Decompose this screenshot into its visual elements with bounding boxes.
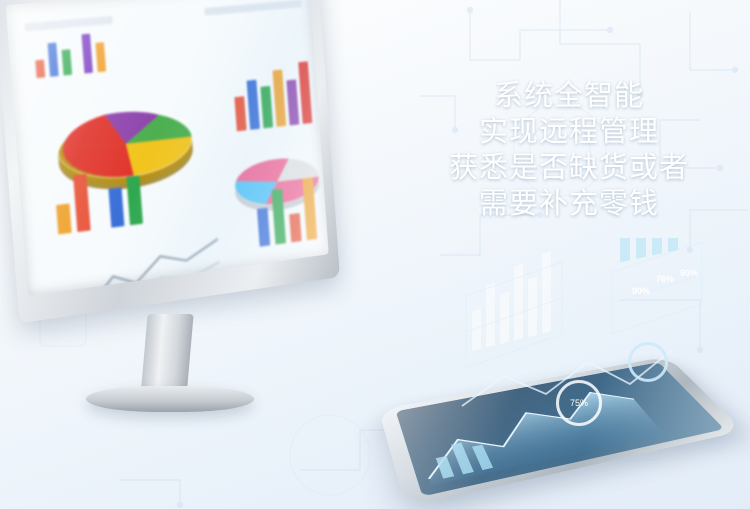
headline-text: 系统全智能 实现远程管理 获悉是否缺货或者 需要补充零钱 [404, 78, 734, 222]
bar-right-group [247, 80, 260, 130]
panel-block [204, 0, 302, 16]
mini-bar [48, 43, 59, 77]
holo-donut-label: 75% [559, 398, 599, 408]
bar-right-group [298, 61, 312, 124]
headline-line-4: 需要补充零钱 [404, 186, 734, 222]
holo-ring-plain [628, 342, 668, 382]
promo-image-stage: 系统全智能 实现远程管理 获悉是否缺货或者 需要补充零钱 [0, 0, 750, 509]
monitor-bezel [0, 0, 340, 323]
mini-bar [62, 49, 73, 75]
desktop-monitor [0, 0, 354, 416]
bar-left-group [108, 187, 124, 227]
bar-left-group [56, 203, 72, 234]
holo-donut-chart: 75% [556, 380, 602, 426]
holo-percent-label-1: 90% [632, 286, 650, 296]
bar-right-group [272, 70, 286, 127]
panel-block [25, 16, 113, 31]
monitor-stand-base [86, 386, 254, 412]
mini-bar [81, 34, 92, 74]
holo-percent-label-3: 90% [680, 268, 698, 278]
headline-line-1: 系统全智能 [404, 78, 734, 114]
mini-bar [95, 42, 106, 72]
bar-bottom-group [289, 213, 301, 242]
line-chart [84, 227, 227, 296]
dashboard-artwork [6, 0, 329, 296]
bar-right-group [260, 86, 273, 128]
bar-right-group [234, 96, 246, 131]
bar-right-group [286, 79, 299, 125]
mini-bar [35, 60, 45, 79]
pie-chart-top [36, 77, 213, 217]
holo-percent-label-2: 76% [656, 274, 674, 284]
headline-line-2: 实现远程管理 [404, 114, 734, 150]
holographic-charts: 90% 76% 90% 75% [452, 238, 750, 458]
monitor-screen [6, 0, 329, 296]
headline-line-3: 获悉是否缺货或者 [404, 150, 734, 186]
